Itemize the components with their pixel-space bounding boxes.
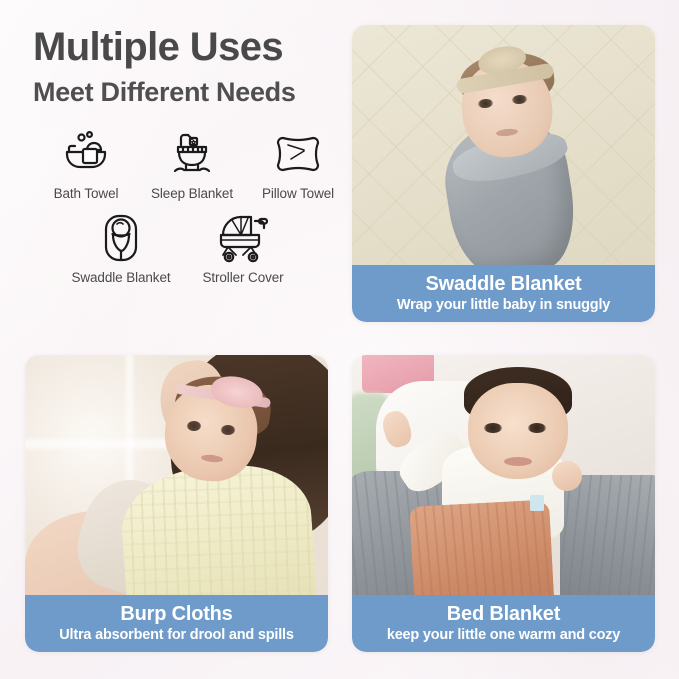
caption-title: Swaddle Blanket — [426, 273, 582, 295]
use-item-bath-towel: Bath Towel — [33, 127, 139, 201]
use-item-swaddle-blanket: Swaddle Blanket — [60, 211, 182, 285]
swaddled-baby-icon — [93, 211, 149, 265]
panel-swaddle-blanket: Swaddle Blanket Wrap your little baby in… — [352, 25, 655, 322]
caption-title: Burp Cloths — [120, 603, 232, 625]
use-item-label: Stroller Cover — [202, 270, 283, 285]
caption-subtitle: Ultra absorbent for drool and spills — [59, 627, 294, 644]
scene-baby-swaddled-on-quilt — [352, 25, 655, 265]
use-item-label: Bath Towel — [54, 186, 119, 201]
page-subtitle: Meet Different Needs — [33, 76, 352, 108]
use-item-label: Pillow Towel — [262, 186, 334, 201]
caption-bed-blanket: Bed Blanket keep your little one warm an… — [352, 595, 655, 652]
photo-swaddle-blanket — [352, 25, 655, 265]
use-item-label: Sleep Blanket — [151, 186, 233, 201]
use-icon-row-1: Bath Towel Sleep Bla — [33, 127, 352, 201]
use-item-label: Swaddle Blanket — [71, 270, 170, 285]
page-title: Multiple Uses — [33, 26, 352, 68]
stroller-icon — [215, 211, 271, 265]
use-item-stroller-cover: Stroller Cover — [182, 211, 304, 285]
crib-icon — [164, 127, 220, 181]
caption-title: Bed Blanket — [447, 603, 560, 625]
panel-burp-cloths: Burp Cloths Ultra absorbent for drool an… — [25, 355, 328, 652]
use-item-sleep-blanket: Sleep Blanket — [139, 127, 245, 201]
caption-subtitle: keep your little one warm and cozy — [387, 627, 620, 644]
scene-mother-burping-baby — [25, 355, 328, 595]
marketing-infographic: Multiple Uses Meet Different Needs Bat — [0, 0, 679, 679]
photo-burp-cloths — [25, 355, 328, 595]
caption-burp-cloths: Burp Cloths Ultra absorbent for drool an… — [25, 595, 328, 652]
photo-bed-blanket — [352, 355, 655, 595]
uses-info-column: Multiple Uses Meet Different Needs Bat — [0, 0, 352, 352]
use-item-pillow-towel: Pillow Towel — [245, 127, 351, 201]
bath-tub-icon — [58, 127, 114, 181]
caption-subtitle: Wrap your little baby in snuggly — [397, 297, 610, 314]
use-icon-row-2: Swaddle Blanket — [33, 211, 352, 285]
pillow-icon — [270, 127, 326, 181]
scene-baby-under-bed-blanket — [352, 355, 655, 595]
caption-swaddle-blanket: Swaddle Blanket Wrap your little baby in… — [352, 265, 655, 322]
panel-bed-blanket: Bed Blanket keep your little one warm an… — [352, 355, 655, 652]
